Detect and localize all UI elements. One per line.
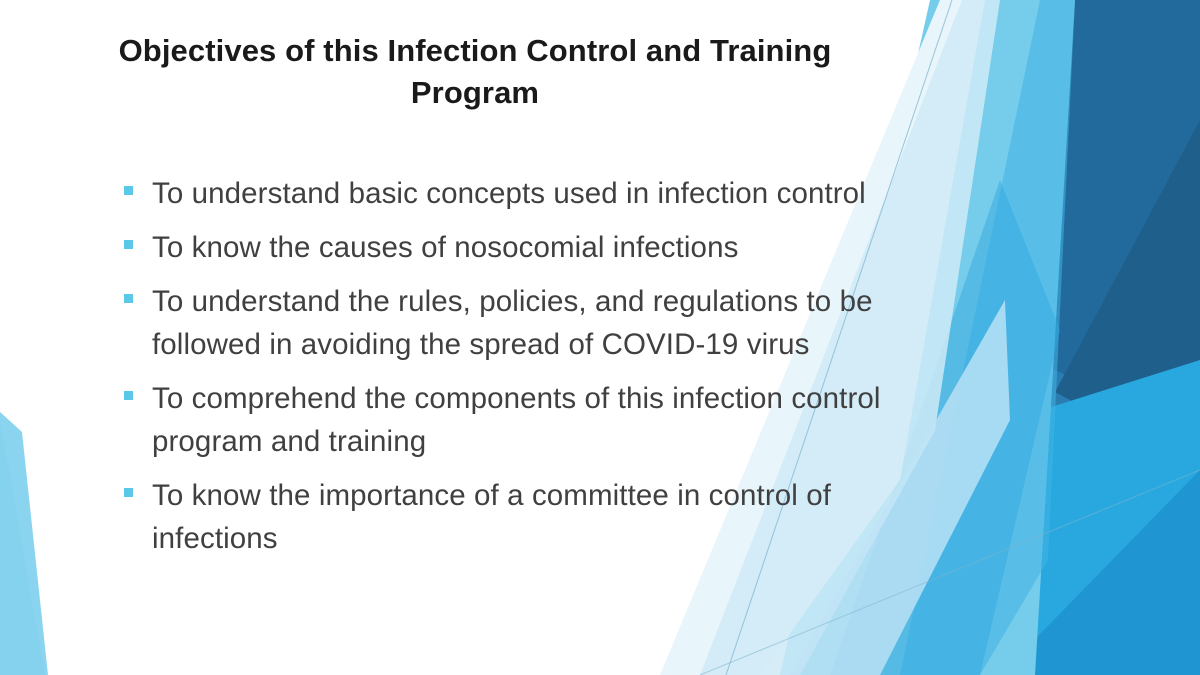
list-item-text: To know the importance of a committee in… — [152, 474, 944, 560]
slide-canvas: Objectives of this Infection Control and… — [0, 0, 1200, 675]
objectives-bullet-list: To understand basic concepts used in inf… — [124, 172, 944, 571]
shape-bottom-left-wedge — [0, 412, 48, 675]
list-item-text: To comprehend the components of this inf… — [152, 377, 944, 463]
list-item: To understand the rules, policies, and r… — [124, 280, 944, 366]
square-bullet-icon — [124, 391, 133, 400]
shape-deep-blue-wedge — [1030, 0, 1200, 430]
square-bullet-icon — [124, 294, 133, 303]
page-title: Objectives of this Infection Control and… — [60, 30, 890, 114]
square-bullet-icon — [124, 186, 133, 195]
square-bullet-icon — [124, 488, 133, 497]
shape-mid-blue-field-2 — [1000, 470, 1200, 675]
title-block: Objectives of this Infection Control and… — [60, 30, 890, 114]
list-item: To know the causes of nosocomial infecti… — [124, 226, 944, 269]
list-item: To know the importance of a committee in… — [124, 474, 944, 560]
list-item: To understand basic concepts used in inf… — [124, 172, 944, 215]
list-item-text: To understand the rules, policies, and r… — [152, 280, 944, 366]
list-item-text: To understand basic concepts used in inf… — [152, 172, 944, 215]
list-item-text: To know the causes of nosocomial infecti… — [152, 226, 944, 269]
shape-deep-blue-wedge-2 — [1055, 120, 1200, 470]
shape-dark-blue-panel — [1010, 0, 1200, 675]
shape-bottom-left-wedge-fill — [0, 418, 45, 675]
list-item: To comprehend the components of this inf… — [124, 377, 944, 463]
square-bullet-icon — [124, 240, 133, 249]
